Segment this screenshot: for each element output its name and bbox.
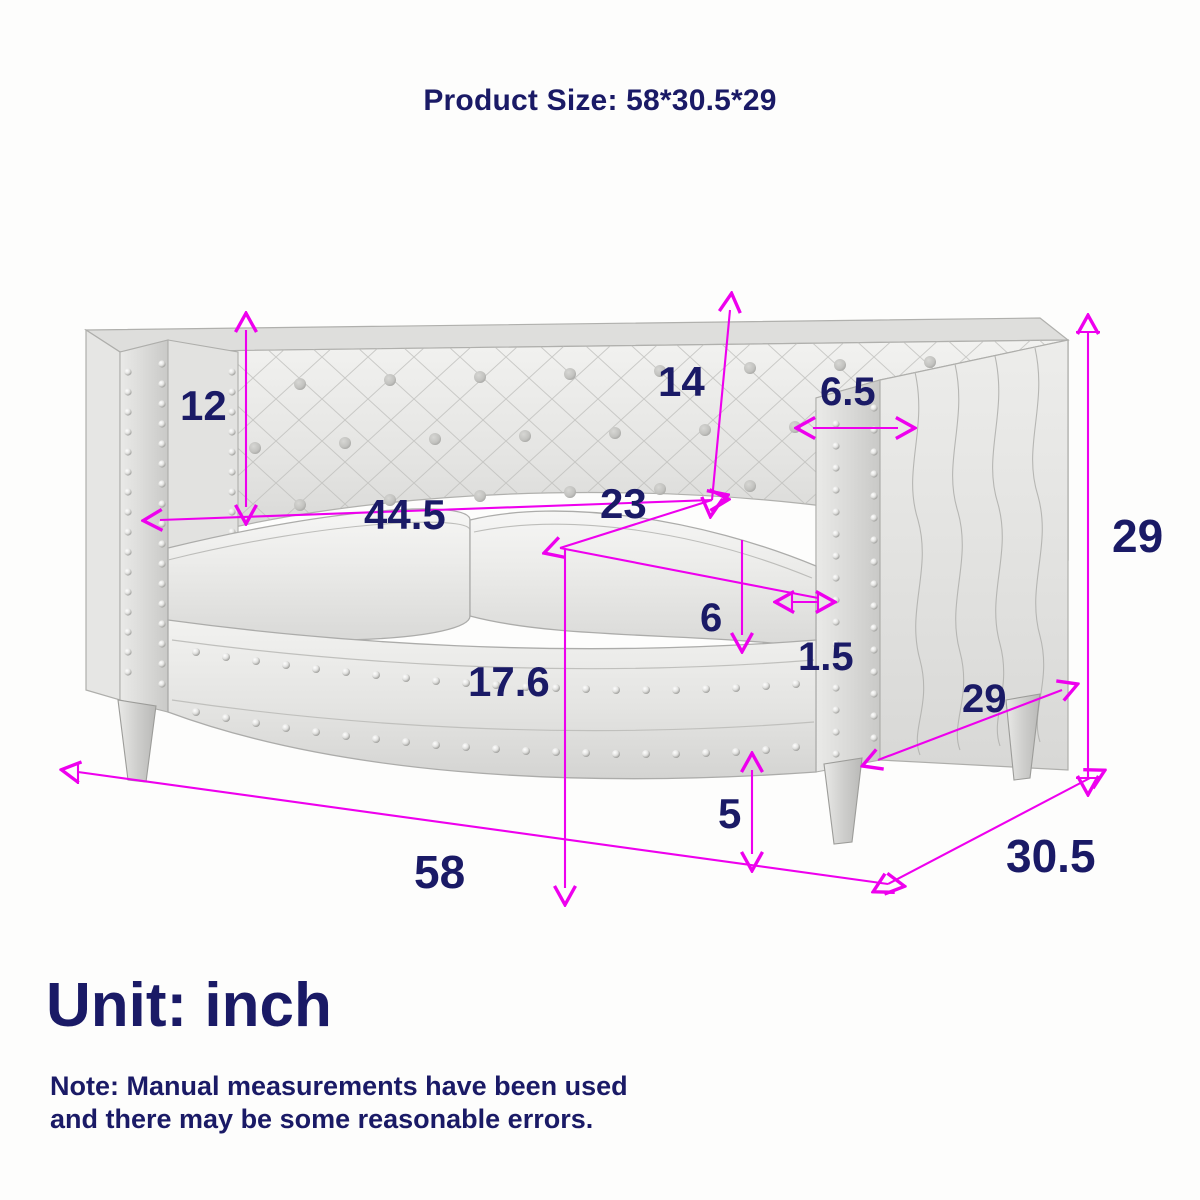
- measurement-note-line2: and there may be some reasonable errors.: [50, 1103, 1000, 1136]
- dimension-label-seat-width: 44.5: [364, 491, 446, 538]
- dimension-label-cushion-height: 6: [700, 596, 722, 640]
- dimension-label-seat-height: 17.6: [468, 658, 550, 705]
- sofa-right-arm-front: [816, 380, 880, 772]
- measurement-note-line1: Note: Manual measurements have been used: [50, 1070, 1000, 1103]
- dimension-label-seat-depth: 23: [600, 480, 647, 527]
- sofa-leg-front-right: [824, 758, 862, 844]
- sofa-left-arm-outer: [86, 330, 120, 700]
- dimension-label-backrest-height: 12: [180, 382, 227, 429]
- dimension-label-arm-width: 6.5: [820, 370, 876, 414]
- dimension-label-seat-back-height: 14: [658, 358, 705, 405]
- dimension-label-total-height: 29: [1112, 510, 1163, 562]
- dimension-label-leg-height: 5: [718, 790, 741, 837]
- sofa-illustration: [86, 318, 1068, 844]
- dimline-overall-width: [78, 772, 888, 884]
- diagram-canvas: Product Size: 58*30.5*29: [0, 0, 1200, 1200]
- dimension-label-overall-depth: 30.5: [1006, 830, 1096, 882]
- sofa-leg-front-left: [118, 700, 156, 782]
- measurement-note: Note: Manual measurements have been used…: [50, 1070, 1000, 1136]
- dimension-label-cushion-gap: 1.5: [798, 635, 854, 679]
- dimension-label-overall-width: 58: [414, 846, 465, 898]
- dimension-label-base-depth: 29: [962, 677, 1007, 721]
- unit-label: Unit: inch: [46, 975, 332, 1037]
